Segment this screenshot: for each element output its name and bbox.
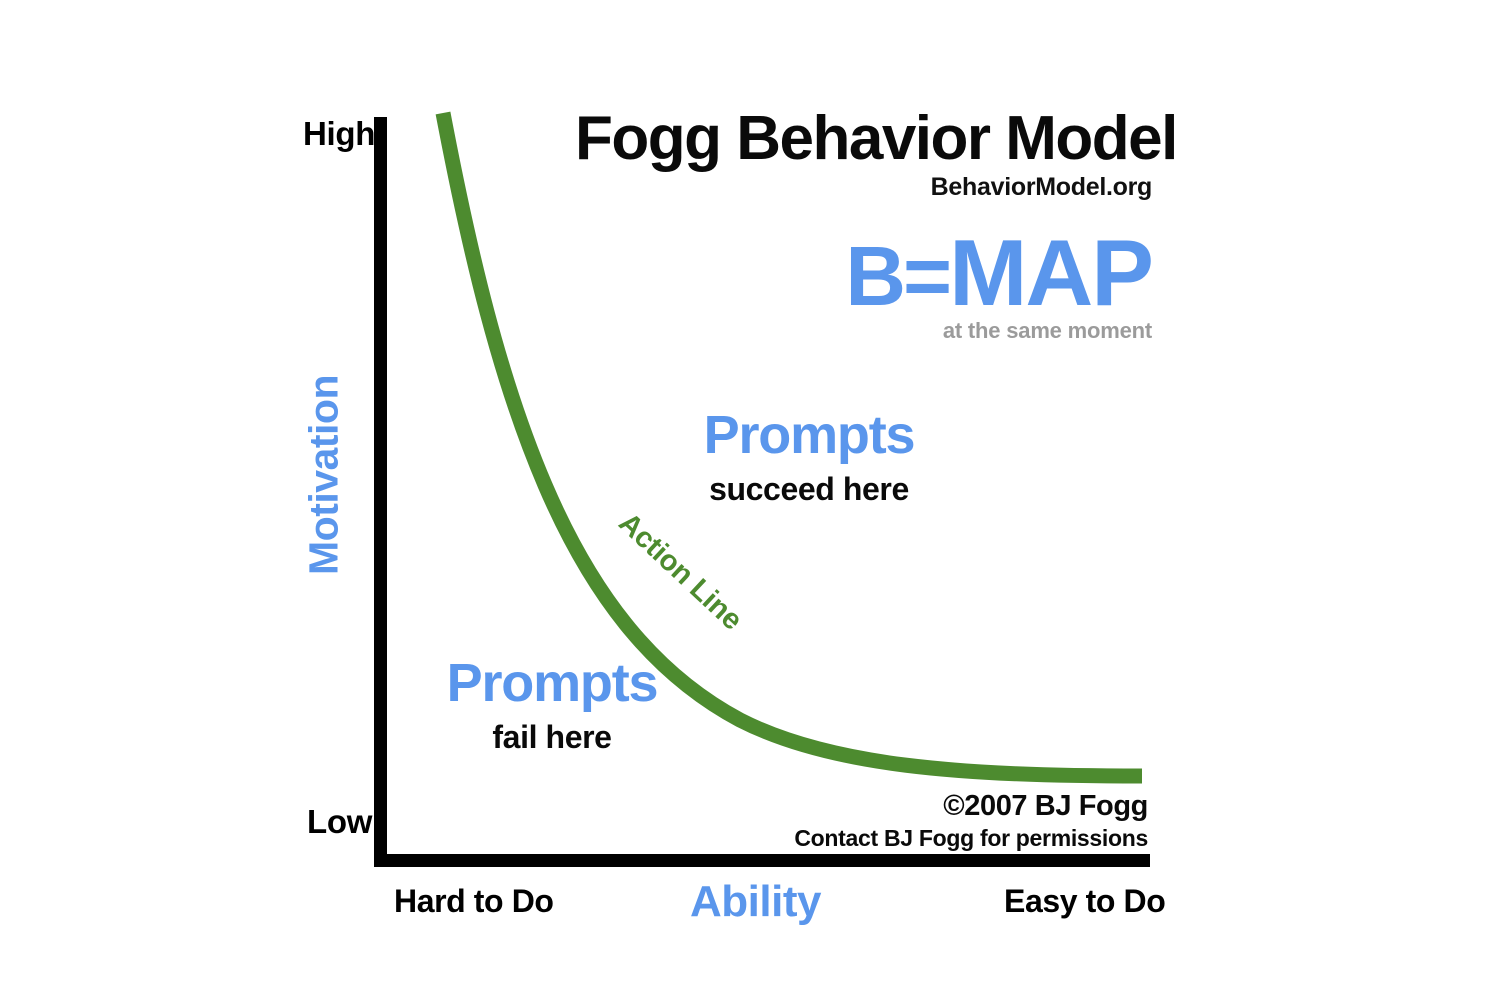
x-axis-line xyxy=(374,854,1150,867)
site-url: BehaviorModel.org xyxy=(931,175,1152,200)
x-axis-title: Ability xyxy=(690,880,821,924)
y-axis-line xyxy=(374,117,387,867)
permissions-notice: Contact BJ Fogg for permissions xyxy=(794,827,1148,850)
zone-fail-main-label: Prompts xyxy=(447,656,658,710)
zone-succeed-main-label: Prompts xyxy=(704,408,915,462)
copyright-notice: ©2007 BJ Fogg xyxy=(943,792,1148,821)
x-axis-tick-hard: Hard to Do xyxy=(394,885,554,917)
x-axis-tick-easy: Easy to Do xyxy=(1004,885,1165,917)
zone-succeed-sub-label: succeed here xyxy=(704,473,915,505)
zone-prompts-succeed: Prompts succeed here xyxy=(704,408,915,505)
zone-prompts-fail: Prompts fail here xyxy=(447,656,658,753)
y-axis-title: Motivation xyxy=(304,375,345,575)
y-axis-tick-high: High xyxy=(303,117,375,150)
formula-subtitle: at the same moment xyxy=(943,320,1152,342)
formula-map: MAP xyxy=(949,220,1152,325)
zone-fail-sub-label: fail here xyxy=(447,721,658,753)
formula-b-equals-map: B=MAP xyxy=(845,226,1152,320)
y-axis-tick-low: Low xyxy=(307,805,372,838)
action-line-label: Action Line xyxy=(613,508,747,635)
formula-b-equals: B= xyxy=(845,229,949,323)
fogg-behavior-model-figure: High Low Motivation Ability Hard to Do E… xyxy=(0,0,1500,1000)
page-title: Fogg Behavior Model xyxy=(575,108,1177,170)
